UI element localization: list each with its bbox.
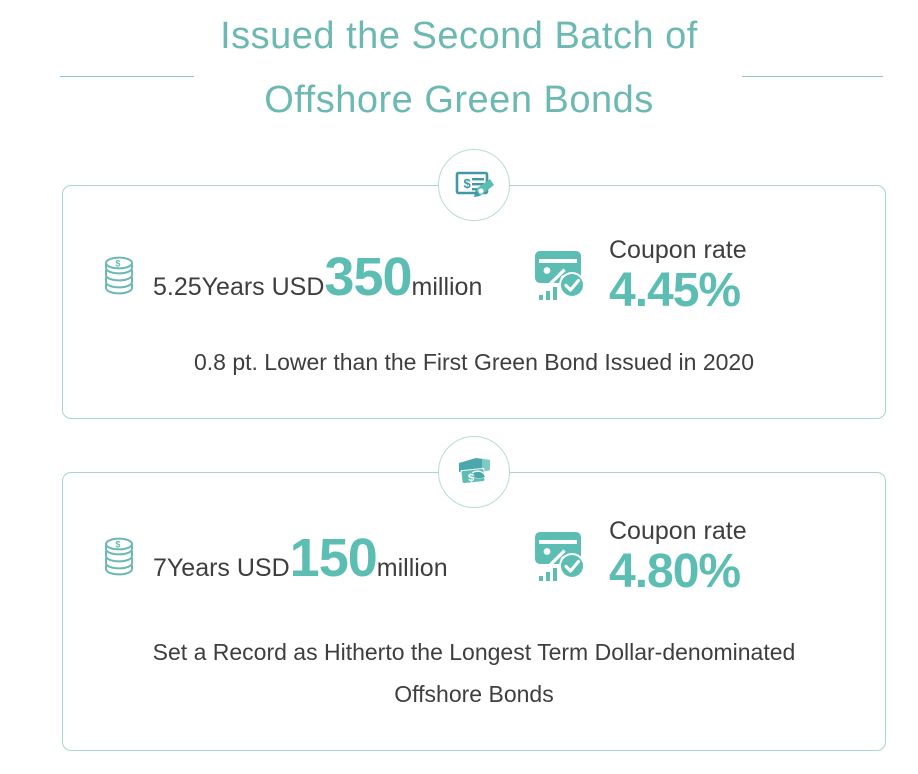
svg-text:$: $ <box>115 259 120 269</box>
bond-caption: Set a Record as Hitherto the Longest Ter… <box>63 631 885 715</box>
bond-caption: 0.8 pt. Lower than the First Green Bond … <box>63 341 885 383</box>
bond-card-second: $ $ 7Years USD 150 million <box>62 472 886 751</box>
bond-caption-line-1: Set a Record as Hitherto the Longest Ter… <box>63 631 885 673</box>
bond-amount-group: $ 7Years USD 150 million <box>63 531 533 585</box>
hand-holding-cash-badge: $ <box>438 436 510 508</box>
bond-stats-row: $ 7Years USD 150 million <box>63 519 885 596</box>
percent-card-check-icon <box>533 529 593 592</box>
cheque-signing-badge: $ <box>438 149 510 221</box>
coupon-rate-value: 4.45% <box>609 267 740 315</box>
page-title-line-2: Offshore Green Bonds <box>0 81 918 119</box>
bond-card-first: $ $ 5.25Years USD 350 <box>62 185 886 419</box>
bond-amount-line: 7Years USD 150 million <box>153 531 448 585</box>
bond-term-currency: 7Years USD <box>153 554 290 583</box>
bond-caption-line-2: Offshore Bonds <box>63 673 885 715</box>
coupon-rate-value: 4.80% <box>609 548 740 596</box>
bond-term-currency: 5.25Years USD <box>153 273 324 302</box>
decorative-rule-right <box>742 76 883 77</box>
page-title-line-1: Issued the Second Batch of <box>0 17 918 55</box>
hand-holding-cash-icon: $ <box>452 450 496 494</box>
bond-amount-unit: million <box>412 273 483 302</box>
coupon-rate-text: Coupon rate 4.80% <box>609 519 747 596</box>
bond-amount-line: 5.25Years USD 350 million <box>153 250 482 304</box>
coin-stack-icon: $ <box>101 535 137 582</box>
svg-text:$: $ <box>464 176 472 191</box>
page-header: Issued the Second Batch of Offshore Gree… <box>0 0 918 140</box>
coin-stack-icon: $ <box>101 254 137 301</box>
bond-stats-row: $ 5.25Years USD 350 million <box>63 238 885 315</box>
coupon-rate-label: Coupon rate <box>609 238 747 263</box>
cheque-signing-icon: $ <box>452 163 496 207</box>
bond-amount-group: $ 5.25Years USD 350 million <box>63 250 533 304</box>
bond-caption-line-1: 0.8 pt. Lower than the First Green Bond … <box>63 341 885 383</box>
percent-card-check-icon <box>533 248 593 311</box>
bond-amount-value: 350 <box>324 250 411 304</box>
bond-amount-unit: million <box>377 554 448 583</box>
coupon-rate-label: Coupon rate <box>609 519 747 544</box>
coupon-rate-text: Coupon rate 4.45% <box>609 238 747 315</box>
coupon-rate-group: Coupon rate 4.80% <box>533 519 747 596</box>
bond-amount-value: 150 <box>290 531 377 585</box>
svg-text:$: $ <box>115 540 120 550</box>
decorative-rule-left <box>60 76 194 77</box>
coupon-rate-group: Coupon rate 4.45% <box>533 238 747 315</box>
